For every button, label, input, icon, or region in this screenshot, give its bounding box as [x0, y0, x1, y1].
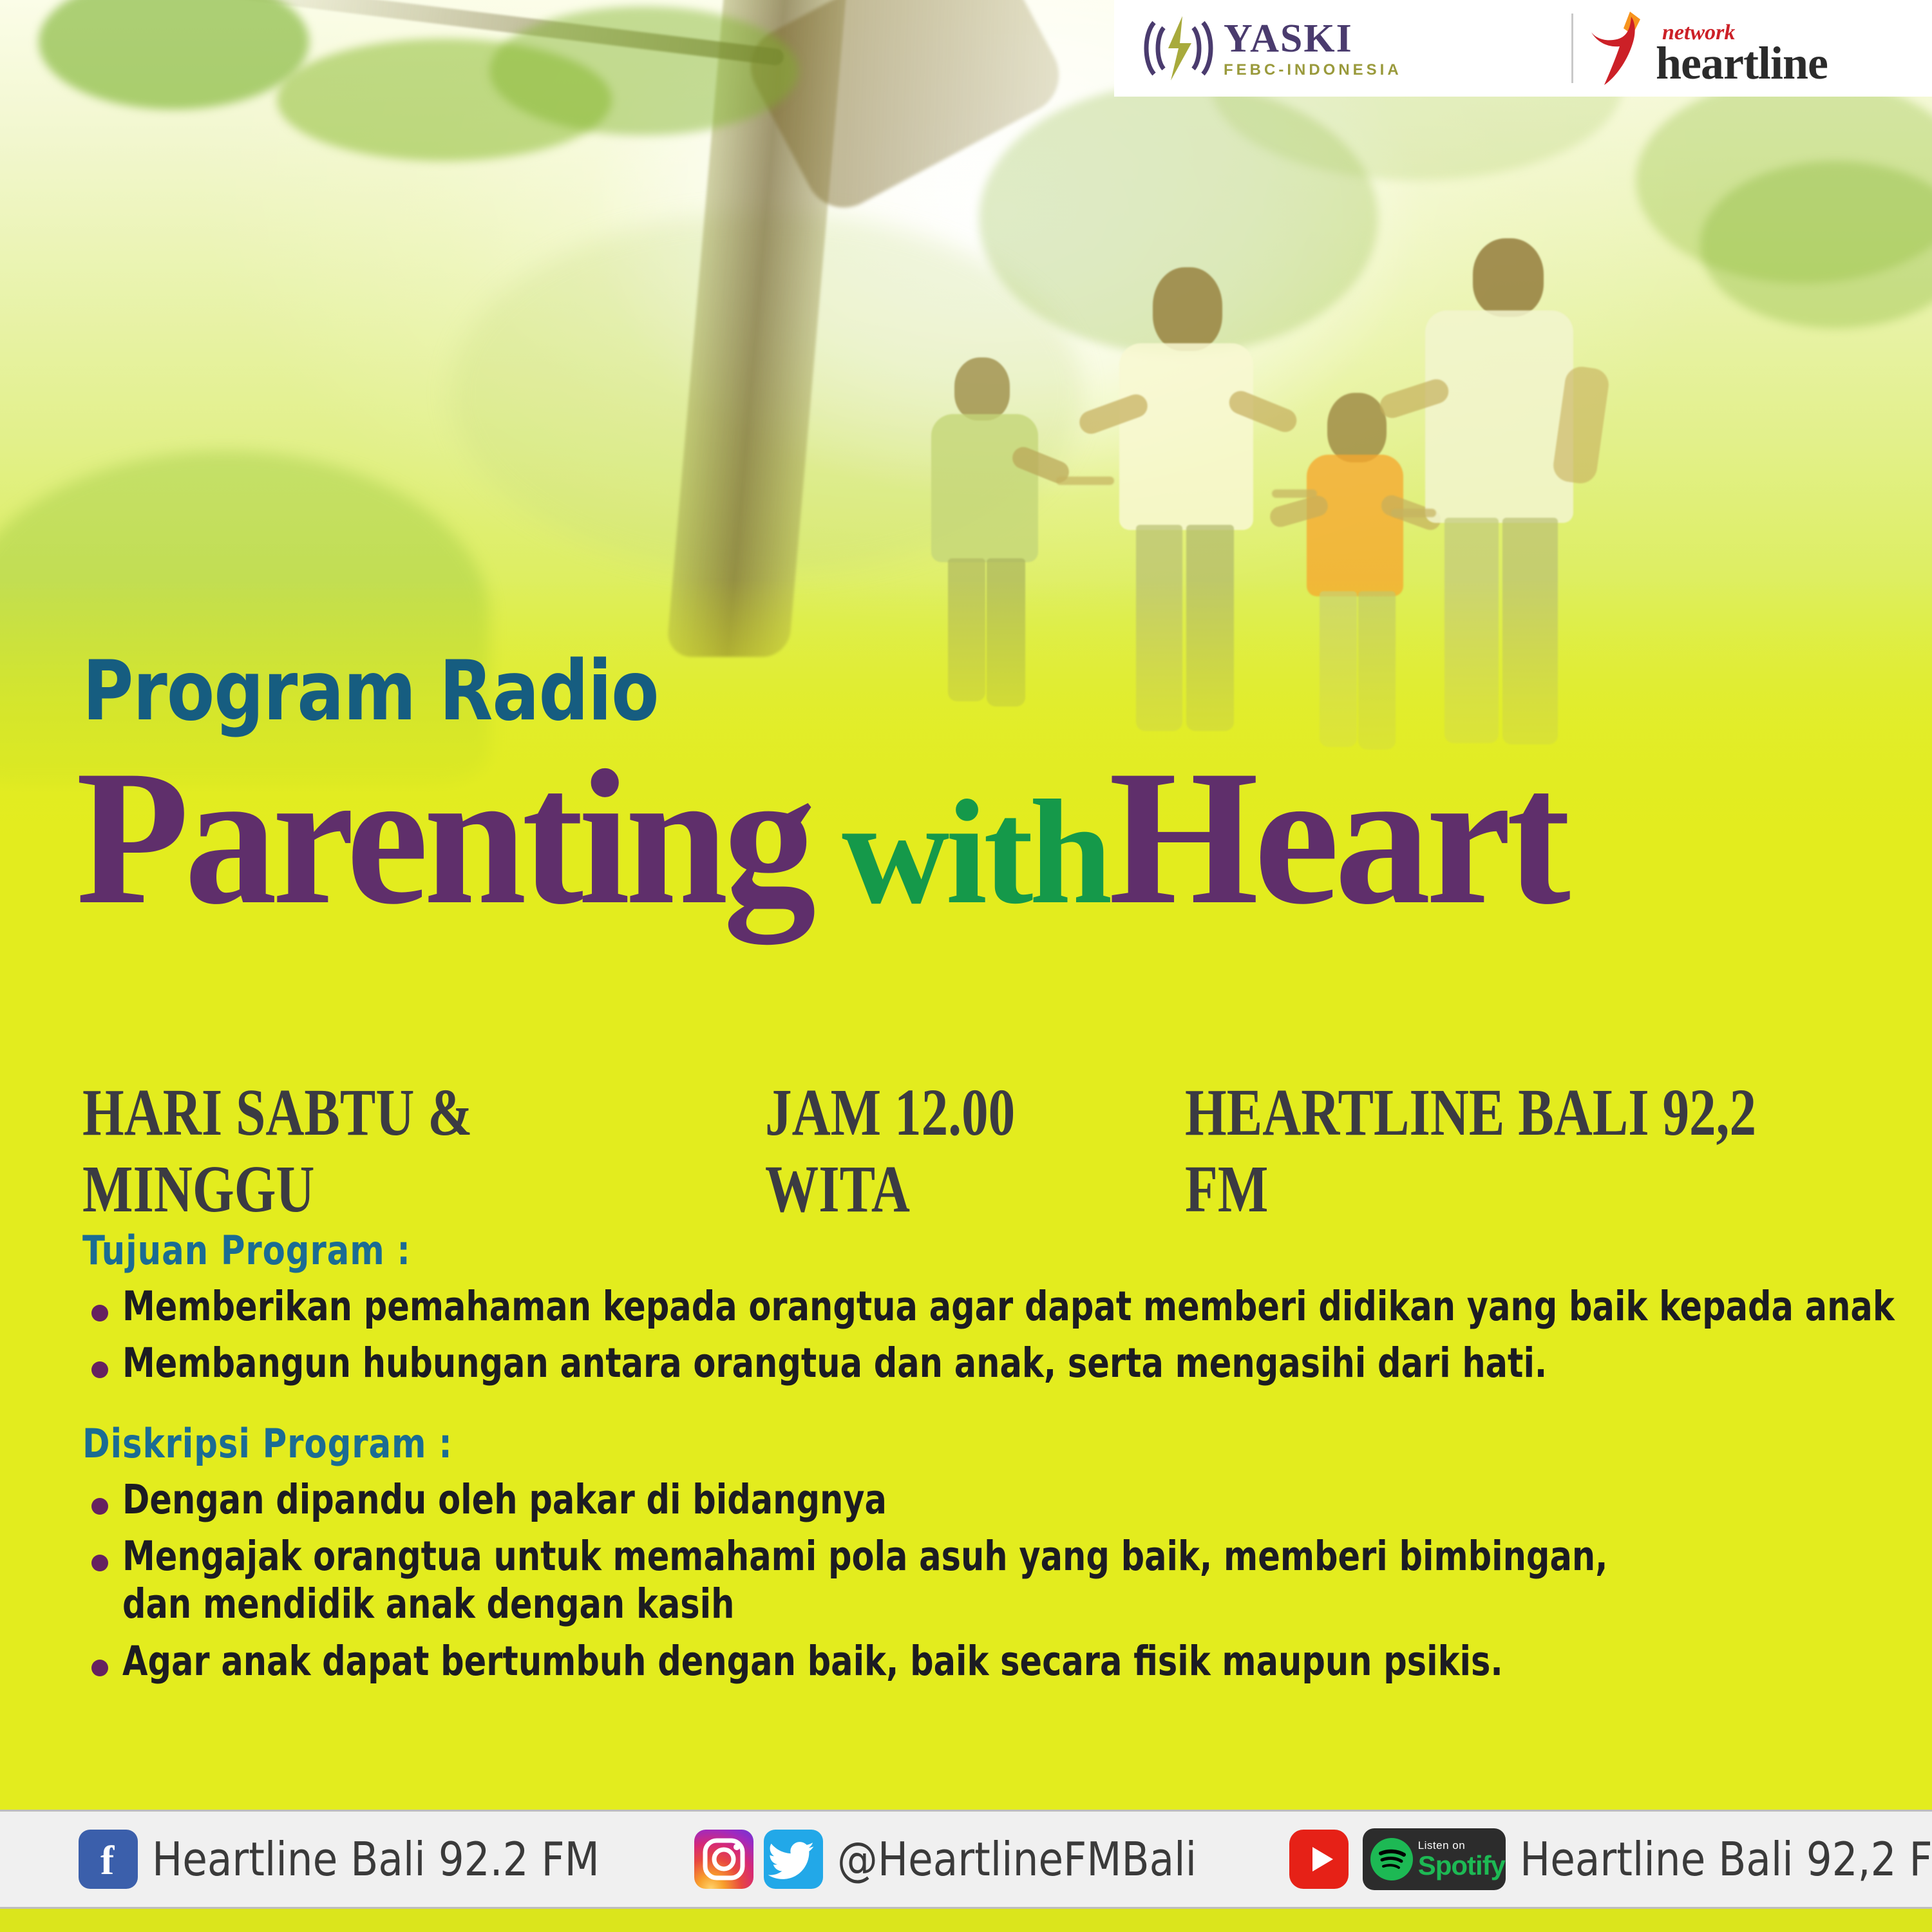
yaski-tagline: FEBC-INDONESIA: [1224, 62, 1402, 78]
bullet-text: Mengajak orangtua untuk memahami pola as…: [122, 1533, 1608, 1580]
twitter-icon[interactable]: [764, 1830, 823, 1889]
joined-hands: [1056, 477, 1114, 485]
logo-strip: YASKI FEBC-INDONESIA network heartline: [1114, 0, 1932, 97]
eyebrow-program-radio: Program Radio: [82, 650, 1821, 733]
section-diskripsi: Diskripsi Program : Dengan dipandu oleh …: [82, 1420, 1879, 1685]
foliage-cluster: [489, 6, 799, 135]
yaski-logo: YASKI FEBC-INDONESIA: [1114, 15, 1555, 82]
heartline-logo: network heartline: [1590, 10, 1828, 86]
section-heading-tujuan: Tujuan Program :: [82, 1227, 1736, 1274]
headline-block: Program Radio ParentingwithHeart: [0, 650, 1932, 930]
heartline-wordmark: heartline: [1656, 40, 1828, 86]
youtube-icon[interactable]: [1289, 1830, 1349, 1889]
footer-social-bar: f Heartline Bali 92.2 FM @HeartlineFMBal…: [0, 1810, 1932, 1909]
bottom-color-strip: [0, 1909, 1932, 1932]
footer-youtube-spotify[interactable]: Listen on Spotify Heartline Bali 92,2 FM: [1289, 1828, 1932, 1890]
list-item: Dengan dipandu oleh pakar di bidangnya: [82, 1476, 1879, 1524]
yaski-wordmark: YASKI: [1224, 19, 1402, 59]
spotify-listen-label: Listen on: [1418, 1840, 1505, 1851]
bullet-list-tujuan: Memberikan pemahaman kepada orangtua aga…: [82, 1283, 1879, 1388]
program-details: Tujuan Program : Memberikan pemahaman ke…: [82, 1227, 1879, 1685]
poster-root: YASKI FEBC-INDONESIA network heartline P…: [0, 0, 1932, 1932]
bullet-dot-icon: [91, 1555, 108, 1571]
footer-facebook[interactable]: f Heartline Bali 92.2 FM: [79, 1830, 613, 1889]
yaski-lightning-waves-icon: [1142, 15, 1215, 82]
bullet-text: Dengan dipandu oleh pakar di bidangnya: [122, 1476, 887, 1524]
spotify-badge[interactable]: Listen on Spotify: [1363, 1828, 1506, 1890]
bullet-dot-icon: [91, 1305, 108, 1321]
section-tujuan: Tujuan Program : Memberikan pemahaman ke…: [82, 1227, 1879, 1388]
bullet-text-continued: dan mendidik anak dengan kasih: [122, 1580, 1608, 1628]
bullet-text: Agar anak dapat bertumbuh dengan baik, b…: [122, 1638, 1503, 1685]
bullet-text: Memberikan pemahaman kepada orangtua aga…: [122, 1283, 1895, 1331]
schedule-days: HARI SABTU & MINGGU: [82, 1074, 651, 1227]
joined-hands: [1391, 509, 1436, 517]
bullet-text: Membangun hubungan antara orangtua dan a…: [122, 1340, 1547, 1387]
schedule-line: HARI SABTU & MINGGU JAM 12.00 WITA HEART…: [0, 1074, 1932, 1227]
spotify-wordmark: Spotify: [1418, 1852, 1505, 1879]
title-word-parenting: Parenting: [76, 744, 811, 930]
list-item: Mengajak orangtua untuk memahami pola as…: [82, 1533, 1879, 1629]
instagram-icon[interactable]: [694, 1830, 753, 1889]
bullet-dot-icon: [91, 1498, 108, 1515]
list-item: Memberikan pemahaman kepada orangtua aga…: [82, 1283, 1879, 1331]
social-handle-label: @HeartlineFMBali: [837, 1832, 1197, 1886]
schedule-time: JAM 12.00 WITA: [765, 1074, 1130, 1227]
schedule-station: HEARTLINE BALI 92,2 FM: [1185, 1074, 1783, 1227]
spotify-icon: [1370, 1838, 1413, 1880]
bullet-list-diskripsi: Dengan dipandu oleh pakar di bidangnya M…: [82, 1476, 1879, 1685]
logo-divider: [1571, 14, 1573, 83]
section-heading-diskripsi: Diskripsi Program :: [82, 1420, 1736, 1467]
title-word-with: with: [842, 770, 1108, 935]
facebook-icon[interactable]: f: [79, 1830, 138, 1889]
list-item: Membangun hubungan antara orangtua dan a…: [82, 1340, 1879, 1387]
page-title: ParentingwithHeart: [76, 744, 1932, 930]
title-word-heart: Heart: [1108, 730, 1566, 944]
footer-instagram-twitter[interactable]: @HeartlineFMBali: [694, 1830, 1207, 1889]
bullet-dot-icon: [91, 1361, 108, 1378]
heartline-figure-icon: [1590, 10, 1652, 86]
foliage-cluster: [39, 0, 309, 109]
list-item: Agar anak dapat bertumbuh dengan baik, b…: [82, 1638, 1879, 1685]
joined-hands: [1272, 489, 1317, 498]
facebook-label: Heartline Bali 92.2 FM: [152, 1832, 600, 1886]
bullet-dot-icon: [91, 1660, 108, 1676]
spotify-channel-label: Heartline Bali 92,2 FM: [1520, 1832, 1932, 1886]
